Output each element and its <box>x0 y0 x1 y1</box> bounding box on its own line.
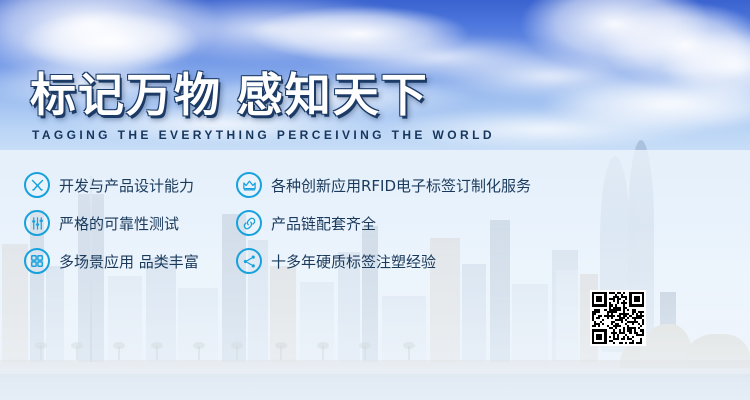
feature-row: 多场景应用 品类丰富 十多年硬质标签注塑经验 <box>24 242 724 280</box>
feature-label: 十多年硬质标签注塑经验 <box>271 251 436 272</box>
grid-icon <box>24 248 50 274</box>
page-subtitle: TAGGING THE EVERYTHING PERCEIVING THE WO… <box>32 128 495 142</box>
qr-code-grid <box>592 292 644 344</box>
feature-item-supply-chain: 产品链配套齐全 <box>236 210 376 236</box>
feature-label: 开发与产品设计能力 <box>59 175 194 196</box>
feature-item-rfid-service: 各种创新应用RFID电子标签订制化服务 <box>236 172 531 198</box>
feature-list: 开发与产品设计能力 各种创新应用RFID电子标签订制化服务 <box>24 166 724 280</box>
feature-label: 产品链配套齐全 <box>271 213 376 234</box>
feature-label: 严格的可靠性测试 <box>59 213 179 234</box>
share-icon <box>236 248 262 274</box>
tools-icon <box>24 172 50 198</box>
feature-row: 开发与产品设计能力 各种创新应用RFID电子标签订制化服务 <box>24 166 724 204</box>
link-icon <box>236 210 262 236</box>
promotional-banner: 标记万物 感知天下 TAGGING THE EVERYTHING PERCEIV… <box>0 0 750 400</box>
feature-item-applications: 多场景应用 品类丰富 <box>24 248 236 274</box>
feature-item-experience: 十多年硬质标签注塑经验 <box>236 248 436 274</box>
qr-code[interactable] <box>590 290 646 346</box>
feature-label: 多场景应用 品类丰富 <box>59 251 199 272</box>
crown-icon <box>236 172 262 198</box>
feature-item-reliability-testing: 严格的可靠性测试 <box>24 210 236 236</box>
page-title: 标记万物 感知天下 <box>30 72 429 118</box>
feature-row: 严格的可靠性测试 产品链配套齐全 <box>24 204 724 242</box>
feature-label: 各种创新应用RFID电子标签订制化服务 <box>271 175 531 196</box>
sliders-icon <box>24 210 50 236</box>
feature-item-development: 开发与产品设计能力 <box>24 172 236 198</box>
